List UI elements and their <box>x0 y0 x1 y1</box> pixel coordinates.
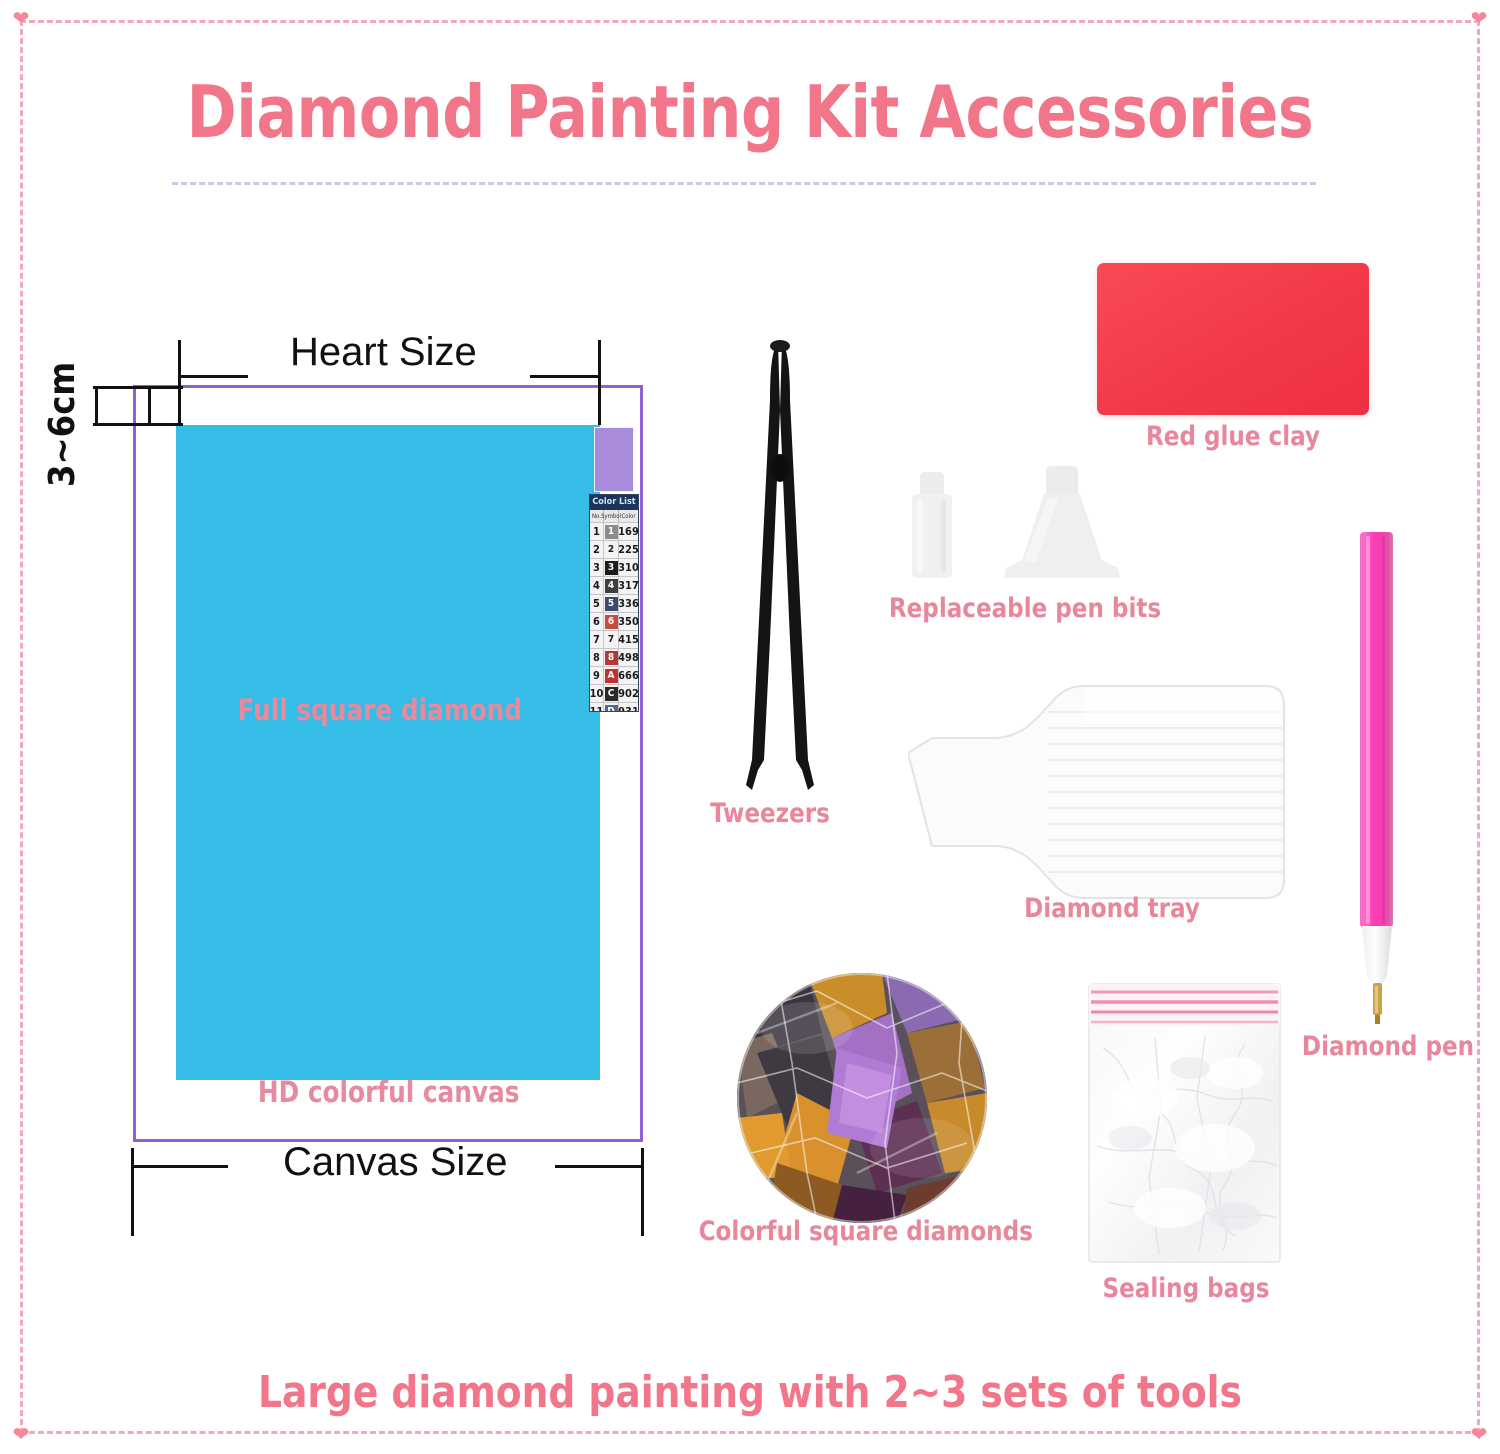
color-list-cell-symbol: 8 <box>604 649 619 666</box>
color-list-row: 33310 <box>590 558 638 576</box>
heart-icon-top-right: ❤ <box>1469 9 1489 29</box>
color-list-cell-no: 2 <box>590 541 604 558</box>
red-glue-clay-label: Red glue clay <box>1119 421 1347 452</box>
heart-icon-top-left: ❤ <box>11 9 31 29</box>
pen-bit-small-illustration <box>908 472 956 580</box>
heart-icon-bottom-left: ❤ <box>11 1425 31 1445</box>
color-list-row: 77415 <box>590 630 638 648</box>
heart-size-left-arm <box>178 375 248 378</box>
color-list-cell-no: 10 <box>590 685 604 702</box>
color-list-cell-no: 8 <box>590 649 604 666</box>
canvas-size-right-arm <box>555 1165 644 1168</box>
color-list-cell-symbol: 7 <box>604 631 619 648</box>
color-list-cell-symbol: 1 <box>604 523 619 540</box>
heart-size-right-arm <box>530 375 601 378</box>
printed-canvas-area <box>176 425 600 1080</box>
diamond-pen-label: Diamond pen <box>1298 1031 1479 1062</box>
color-list-row: 9A666 <box>590 666 638 684</box>
colorful-square-diamonds-photo <box>737 973 987 1223</box>
color-list-cell-color: 902 <box>619 685 638 702</box>
tweezers-illustration <box>700 340 860 800</box>
color-list-cell-no: 9 <box>590 667 604 684</box>
color-list-title: Color List <box>590 495 638 510</box>
canvas-size-left-arm <box>131 1165 228 1168</box>
color-list-row: 10C902 <box>590 684 638 702</box>
color-list-cell-color: 666 <box>619 667 638 684</box>
lavender-color-swatch <box>594 427 634 492</box>
color-symbol-swatch: 8 <box>605 651 618 665</box>
diamond-pen-illustration <box>1352 528 1404 1028</box>
color-symbol-swatch: 1 <box>605 525 618 539</box>
color-list-header-color: Color <box>619 510 638 522</box>
pen-bit-large-illustration <box>998 466 1126 582</box>
title-divider <box>172 182 1316 185</box>
color-list-cell-symbol: 5 <box>604 595 619 612</box>
color-list-cell-color: 317 <box>619 577 638 594</box>
color-symbol-swatch: 2 <box>605 543 618 557</box>
color-list-cell-no: 1 <box>590 523 604 540</box>
poster-root: ❤ ❤ ❤ ❤ Diamond Painting Kit Accessories… <box>0 0 1500 1454</box>
color-list-header-row: No. Symbol Color <box>590 510 638 522</box>
color-list-cell-no: 4 <box>590 577 604 594</box>
margin-bottom-arm <box>93 423 183 426</box>
color-list-row: 44317 <box>590 576 638 594</box>
color-list-cell-color: 350 <box>619 613 638 630</box>
color-list-cell-color: 225 <box>619 541 638 558</box>
color-list-cell-color: 415 <box>619 631 638 648</box>
page-title: Diamond Painting Kit Accessories <box>53 70 1448 154</box>
replaceable-pen-bits-label: Replaceable pen bits <box>887 593 1163 624</box>
color-list-row: 66350 <box>590 612 638 630</box>
color-list-cell-symbol: 2 <box>604 541 619 558</box>
heart-size-right-tick <box>598 340 601 425</box>
diamond-tray-label: Diamond tray <box>1017 893 1207 924</box>
page-slogan: Large diamond painting with 2~3 sets of … <box>38 1367 1463 1418</box>
color-symbol-swatch: 7 <box>605 633 618 647</box>
color-list-cell-no: 5 <box>590 595 604 612</box>
margin-top-arm <box>93 386 183 389</box>
color-symbol-swatch: 3 <box>605 561 618 575</box>
canvas-size-label: Canvas Size <box>283 1140 508 1185</box>
hd-colorful-canvas-label: HD colorful canvas <box>258 1075 520 1109</box>
heart-size-label: Heart Size <box>290 330 477 375</box>
color-list-cell-color: 310 <box>619 559 638 576</box>
color-list-cell-symbol: 3 <box>604 559 619 576</box>
color-list-row: 88498 <box>590 648 638 666</box>
color-list-cell-no: 3 <box>590 559 604 576</box>
color-list-cell-symbol: 6 <box>604 613 619 630</box>
color-list-cell-symbol: D <box>604 703 619 712</box>
heart-icon-bottom-right: ❤ <box>1469 1425 1489 1445</box>
color-list-cell-symbol: 4 <box>604 577 619 594</box>
color-list-cell-no: 11 <box>590 703 604 712</box>
color-symbol-swatch: D <box>605 705 618 713</box>
diamond-tray-illustration <box>908 678 1286 910</box>
red-glue-clay-illustration <box>1097 263 1369 415</box>
color-list-cell-symbol: C <box>604 685 619 702</box>
color-symbol-swatch: 6 <box>605 615 618 629</box>
margin-size-label: 3~6cm <box>42 362 83 487</box>
color-list-header-symbol: Symbol <box>604 510 619 522</box>
color-list-cell-no: 7 <box>590 631 604 648</box>
color-symbol-swatch: A <box>605 669 618 683</box>
color-symbol-swatch: C <box>605 687 618 701</box>
margin-left-tick <box>95 386 98 426</box>
color-list-table: Color List No. Symbol Color 111692222533… <box>589 494 639 712</box>
canvas-size-left-tick <box>131 1148 134 1236</box>
color-list-cell-color: 336 <box>619 595 638 612</box>
margin-right-tick <box>148 386 151 426</box>
canvas-size-right-tick <box>641 1148 644 1236</box>
color-list-cell-color: 931 <box>619 703 638 712</box>
color-list-cell-color: 169 <box>619 523 638 540</box>
heart-size-left-tick <box>178 340 181 425</box>
color-list-cell-color: 498 <box>619 649 638 666</box>
tweezers-label: Tweezers <box>666 798 875 829</box>
color-list-row: 11169 <box>590 522 638 540</box>
color-symbol-swatch: 5 <box>605 597 618 611</box>
sealing-bag-illustration <box>1085 978 1284 1266</box>
color-list-row: 11D931 <box>590 702 638 712</box>
color-list-cell-no: 6 <box>590 613 604 630</box>
full-square-diamond-label: Full square diamond <box>237 693 522 727</box>
colorful-square-diamonds-label: Colorful square diamonds <box>699 1216 1027 1247</box>
color-list-row: 22225 <box>590 540 638 558</box>
color-list-row: 55336 <box>590 594 638 612</box>
sealing-bags-label: Sealing bags <box>1091 1273 1281 1304</box>
color-symbol-swatch: 4 <box>605 579 618 593</box>
color-list-cell-symbol: A <box>604 667 619 684</box>
